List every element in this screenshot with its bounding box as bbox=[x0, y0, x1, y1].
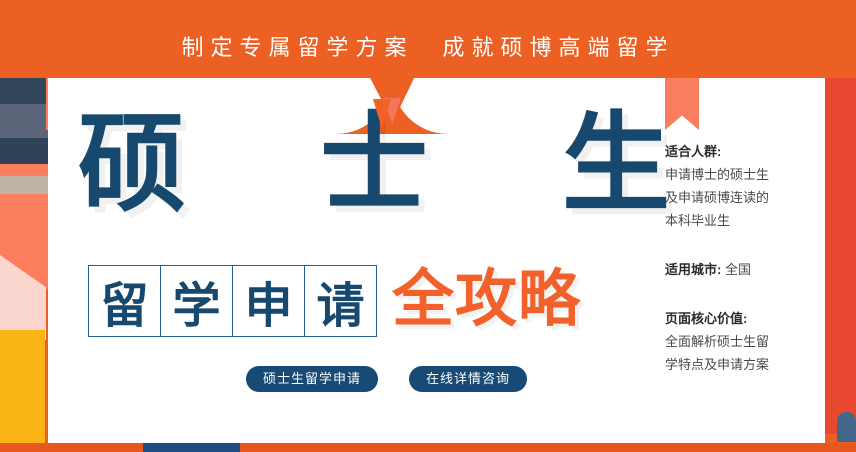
subtitle-char-box: 学 bbox=[160, 265, 233, 337]
consult-button[interactable]: 在线详情咨询 bbox=[409, 366, 527, 392]
subtitle-highlight: 全攻略 bbox=[392, 265, 581, 335]
info-value-line: 学特点及申请方案 bbox=[665, 353, 805, 376]
decor-pink-block bbox=[0, 300, 46, 334]
poster-canvas: 制定专属留学方案 成就硕博高端留学 硕 士 生 留 学 申 请 全攻略 硕士生留… bbox=[0, 0, 856, 452]
decor-tan-strip bbox=[0, 176, 48, 194]
subtitle-row: 留 学 申 请 全攻略 bbox=[88, 265, 581, 337]
info-value-line: 全面解析硕士生留 bbox=[665, 330, 805, 353]
info-audience-label: 适合人群: bbox=[665, 140, 805, 163]
info-block-value: 页面核心价值: 全面解析硕士生留 学特点及申请方案 bbox=[665, 307, 805, 376]
info-block-city: 适用城市: 全国 bbox=[665, 258, 805, 281]
info-audience-line: 及申请硕博连读的 bbox=[665, 186, 805, 209]
cta-button-group: 硕士生留学申请 在线详情咨询 bbox=[246, 366, 527, 392]
info-value-label: 页面核心价值: bbox=[665, 307, 805, 330]
header-banner: 制定专属留学方案 成就硕博高端留学 bbox=[0, 0, 856, 78]
info-city-value: 全国 bbox=[725, 262, 751, 277]
decor-slate-block-bottom bbox=[0, 138, 48, 164]
decor-slate-block-mid bbox=[0, 104, 48, 138]
footer-navy-segment bbox=[143, 443, 240, 452]
page-title: 硕 士 生 bbox=[78, 98, 618, 230]
apply-button[interactable]: 硕士生留学申请 bbox=[246, 366, 378, 392]
decor-yellow-block bbox=[0, 330, 45, 443]
decor-right-blue-tab bbox=[837, 412, 856, 442]
info-audience-line: 本科毕业生 bbox=[665, 209, 805, 232]
subtitle-char-box: 留 bbox=[88, 265, 161, 337]
info-panel: 适合人群: 申请博士的硕士生 及申请硕博连读的 本科毕业生 适用城市: 全国 页… bbox=[665, 140, 805, 402]
info-block-audience: 适合人群: 申请博士的硕士生 及申请硕博连读的 本科毕业生 bbox=[665, 140, 805, 232]
banner-slogan: 制定专属留学方案 成就硕博高端留学 bbox=[0, 30, 856, 62]
info-city-label: 适用城市: bbox=[665, 262, 721, 277]
subtitle-char-box: 申 bbox=[232, 265, 305, 337]
footer-orange-bar bbox=[0, 443, 856, 452]
decor-slate-block-top bbox=[0, 76, 48, 104]
decor-coral-strip bbox=[0, 164, 48, 176]
subtitle-char-box: 请 bbox=[304, 265, 377, 337]
info-audience-line: 申请博士的硕士生 bbox=[665, 163, 805, 186]
